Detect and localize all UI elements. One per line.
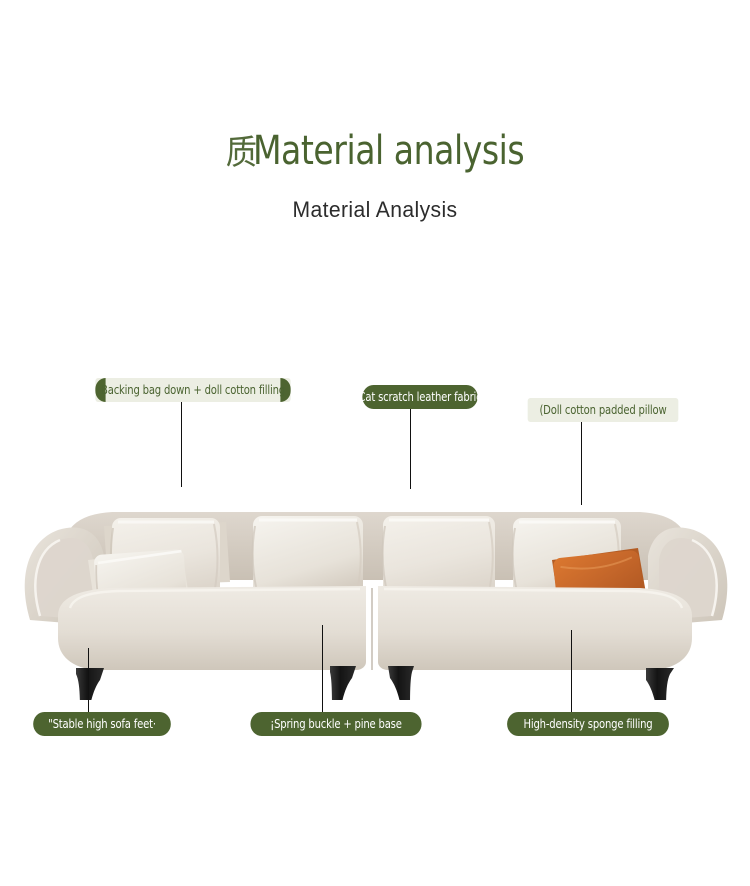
sofa-graphic bbox=[0, 430, 750, 700]
callout-label-backing-bag-down[interactable]: Backing bag down + doll cotton filling bbox=[95, 378, 290, 402]
leader-line-stable-high-sofa-feet bbox=[88, 648, 89, 712]
leader-line-backing-bag-down bbox=[181, 402, 182, 487]
callout-label-doll-cotton-padded-pillow[interactable]: (Doll cotton padded pillow bbox=[528, 398, 679, 422]
leader-line-high-density-sponge-filling bbox=[571, 630, 572, 712]
callout-label-high-density-sponge-filling[interactable]: High-density sponge filling bbox=[507, 712, 669, 736]
leg-front-right bbox=[646, 668, 674, 700]
callout-label-text: Backing bag down + doll cotton filling bbox=[101, 384, 285, 397]
page-title-en: Material Analysis bbox=[15, 196, 735, 224]
sofa-legs bbox=[76, 666, 674, 700]
leg-middle-right bbox=[388, 666, 414, 700]
callout-label-text: "Stable high sofa feet· bbox=[48, 718, 156, 731]
sofa-illustration bbox=[0, 430, 750, 700]
callout-label-text: ¡Spring buckle + pine base bbox=[270, 718, 401, 731]
sofa-seat-base bbox=[58, 586, 692, 670]
callout-label-stable-high-sofa-feet[interactable]: "Stable high sofa feet· bbox=[33, 712, 171, 736]
callout-label-text: (Doll cotton padded pillow bbox=[539, 404, 666, 417]
leader-line-cat-scratch-leather-fabric bbox=[410, 409, 411, 489]
leg-front-left bbox=[76, 668, 104, 700]
material-analysis-page: 质Material analysis Material Analysis bbox=[0, 0, 750, 886]
callout-label-spring-buckle-pine-base[interactable]: ¡Spring buckle + pine base bbox=[250, 712, 421, 736]
callout-label-cat-scratch-leather-fabric[interactable]: Cat scratch leather fabric bbox=[362, 385, 477, 409]
title-cn-text: Material analysis bbox=[253, 128, 524, 174]
leg-middle-left bbox=[330, 666, 356, 700]
title-lead-glyph: 质 bbox=[226, 133, 257, 173]
page-title-cn: 质Material analysis bbox=[30, 128, 720, 176]
leader-line-doll-cotton-padded-pillow bbox=[581, 422, 582, 505]
callout-label-text: Cat scratch leather fabric bbox=[359, 391, 482, 404]
callout-label-text: High-density sponge filling bbox=[524, 718, 653, 731]
leader-line-spring-buckle-pine-base bbox=[322, 625, 323, 712]
